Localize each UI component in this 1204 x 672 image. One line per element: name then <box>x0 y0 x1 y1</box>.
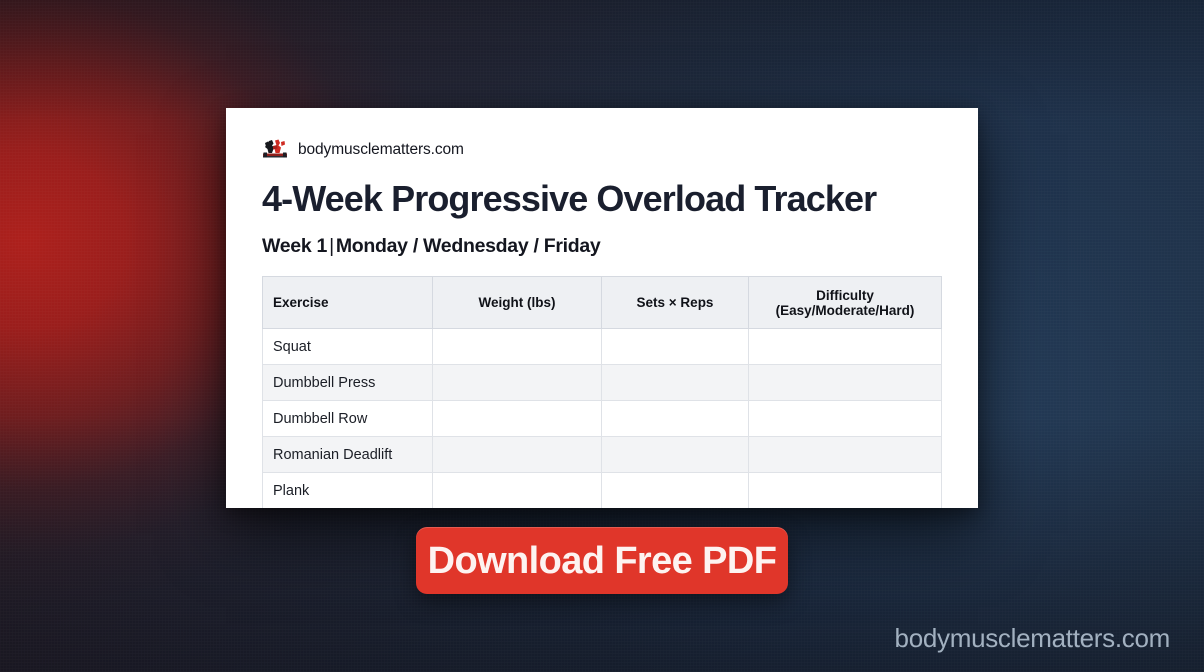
brand-row: bodymusclematters.com <box>262 138 942 162</box>
column-header-weight: Weight (lbs) <box>433 277 602 329</box>
column-header-exercise: Exercise <box>263 277 433 329</box>
brand-name-label: bodymusclematters.com <box>298 141 464 159</box>
cell-difficulty[interactable] <box>749 473 942 509</box>
difficulty-header-line2: (Easy/Moderate/Hard) <box>776 303 915 318</box>
workout-tracker-table: Exercise Weight (lbs) Sets × Reps Diffic… <box>262 276 942 508</box>
flexing-lifter-logo-icon <box>262 138 288 162</box>
cell-sets-reps[interactable] <box>602 473 749 509</box>
table-row: Squat <box>263 329 942 365</box>
cell-weight[interactable] <box>433 437 602 473</box>
subtitle-separator: | <box>327 235 336 257</box>
cell-weight[interactable] <box>433 401 602 437</box>
table-row: Dumbbell Press <box>263 365 942 401</box>
cell-sets-reps[interactable] <box>602 437 749 473</box>
page-title: 4-Week Progressive Overload Tracker <box>262 178 942 220</box>
cell-sets-reps[interactable] <box>602 329 749 365</box>
week-label: Week 1 <box>262 235 327 257</box>
cell-exercise: Dumbbell Press <box>263 365 433 401</box>
table-row: Romanian Deadlift <box>263 437 942 473</box>
cell-difficulty[interactable] <box>749 401 942 437</box>
cell-sets-reps[interactable] <box>602 365 749 401</box>
cell-exercise: Romanian Deadlift <box>263 437 433 473</box>
table-header-row: Exercise Weight (lbs) Sets × Reps Diffic… <box>263 277 942 329</box>
table-row: Dumbbell Row <box>263 401 942 437</box>
table-row: Plank <box>263 473 942 509</box>
cell-difficulty[interactable] <box>749 437 942 473</box>
column-header-difficulty: Difficulty (Easy/Moderate/Hard) <box>749 277 942 329</box>
tracker-card: bodymusclematters.com 4-Week Progressive… <box>226 108 978 508</box>
cell-difficulty[interactable] <box>749 365 942 401</box>
cell-weight[interactable] <box>433 329 602 365</box>
cell-weight[interactable] <box>433 365 602 401</box>
cell-difficulty[interactable] <box>749 329 942 365</box>
table-header: Exercise Weight (lbs) Sets × Reps Diffic… <box>263 277 942 329</box>
week-subtitle: Week 1|Monday / Wednesday / Friday <box>262 234 942 258</box>
cell-exercise: Squat <box>263 329 433 365</box>
cell-exercise: Plank <box>263 473 433 509</box>
days-label: Monday / Wednesday / Friday <box>336 235 601 257</box>
cell-sets-reps[interactable] <box>602 401 749 437</box>
download-free-pdf-button[interactable]: Download Free PDF <box>416 527 788 594</box>
column-header-sets-reps: Sets × Reps <box>602 277 749 329</box>
difficulty-header-line1: Difficulty <box>816 288 874 303</box>
table-body: Squat Dumbbell Press Dumbbell Row Romani… <box>263 329 942 509</box>
cell-exercise: Dumbbell Row <box>263 401 433 437</box>
watermark-label: bodymusclematters.com <box>895 623 1170 654</box>
cell-weight[interactable] <box>433 473 602 509</box>
